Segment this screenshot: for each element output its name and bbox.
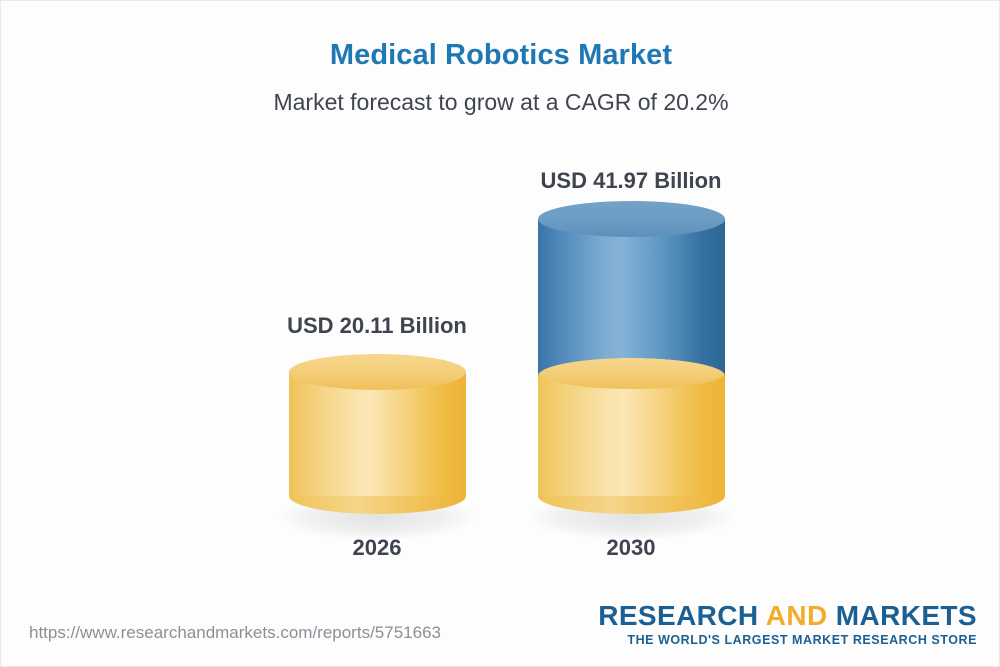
bar-2030-growth-body [538, 219, 725, 376]
bar-2030-segment-base [538, 356, 725, 514]
chart-subtitle: Market forecast to grow at a CAGR of 20.… [1, 89, 1000, 116]
bar-2026-top-ellipse [289, 354, 466, 390]
bar-2030-category-label: 2030 [531, 535, 731, 561]
bar-2026-segment-base [289, 354, 466, 514]
report-url[interactable]: https://www.researchandmarkets.com/repor… [29, 623, 441, 643]
brand-word-research: RESEARCH [598, 600, 765, 631]
research-and-markets-logo[interactable]: RESEARCH AND MARKETS THE WORLD'S LARGEST… [598, 601, 977, 647]
chart-canvas: Medical Robotics Market Market forecast … [0, 0, 1000, 667]
bar-2026-category-label: 2026 [277, 535, 477, 561]
bar-2030 [538, 201, 725, 514]
chart-title: Medical Robotics Market [1, 39, 1000, 72]
brand-tagline: THE WORLD'S LARGEST MARKET RESEARCH STOR… [598, 633, 977, 647]
brand-word-markets: MARKETS [836, 600, 977, 631]
bar-2026 [289, 354, 466, 514]
brand-word-and: AND [766, 600, 836, 631]
bar-2030-growth-top-ellipse [538, 201, 725, 237]
bar-2026-value-label: USD 20.11 Billion [277, 313, 477, 339]
bar-2030-base-body [538, 372, 725, 496]
bar-2026-body [289, 372, 466, 496]
brand-wordmark: RESEARCH AND MARKETS [598, 601, 977, 630]
bar-2030-segment-growth [538, 201, 725, 376]
bar-2030-value-label: USD 41.97 Billion [531, 168, 731, 194]
